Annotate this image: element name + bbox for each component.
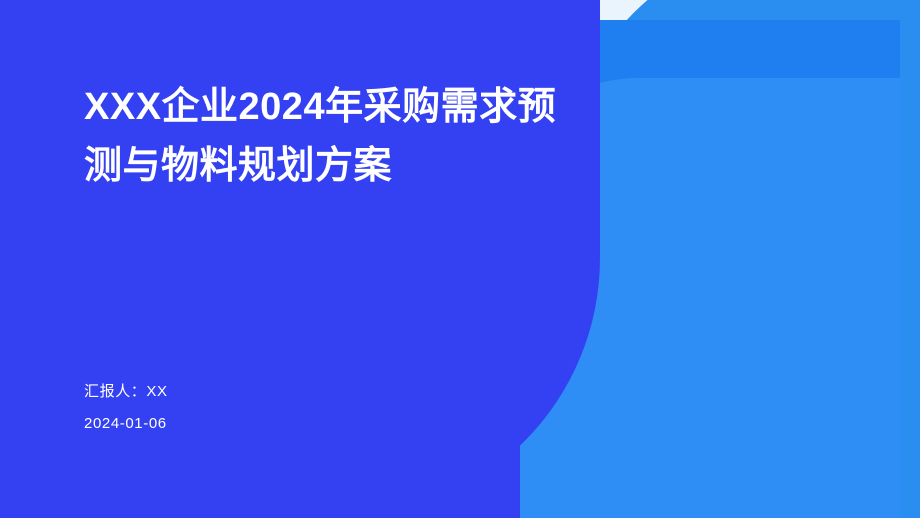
presenter-label: 汇报人：XX	[84, 376, 168, 408]
slide-title: XXX企业2024年采购需求预测与物料规划方案	[84, 78, 584, 196]
slide-meta: 汇报人：XX 2024-01-06	[84, 376, 168, 439]
date-label: 2024-01-06	[84, 408, 168, 440]
slide-content: XXX企业2024年采购需求预测与物料规划方案 汇报人：XX 2024-01-0…	[84, 0, 604, 518]
title-slide: XXX企业2024年采购需求预测与物料规划方案 汇报人：XX 2024-01-0…	[0, 0, 920, 518]
